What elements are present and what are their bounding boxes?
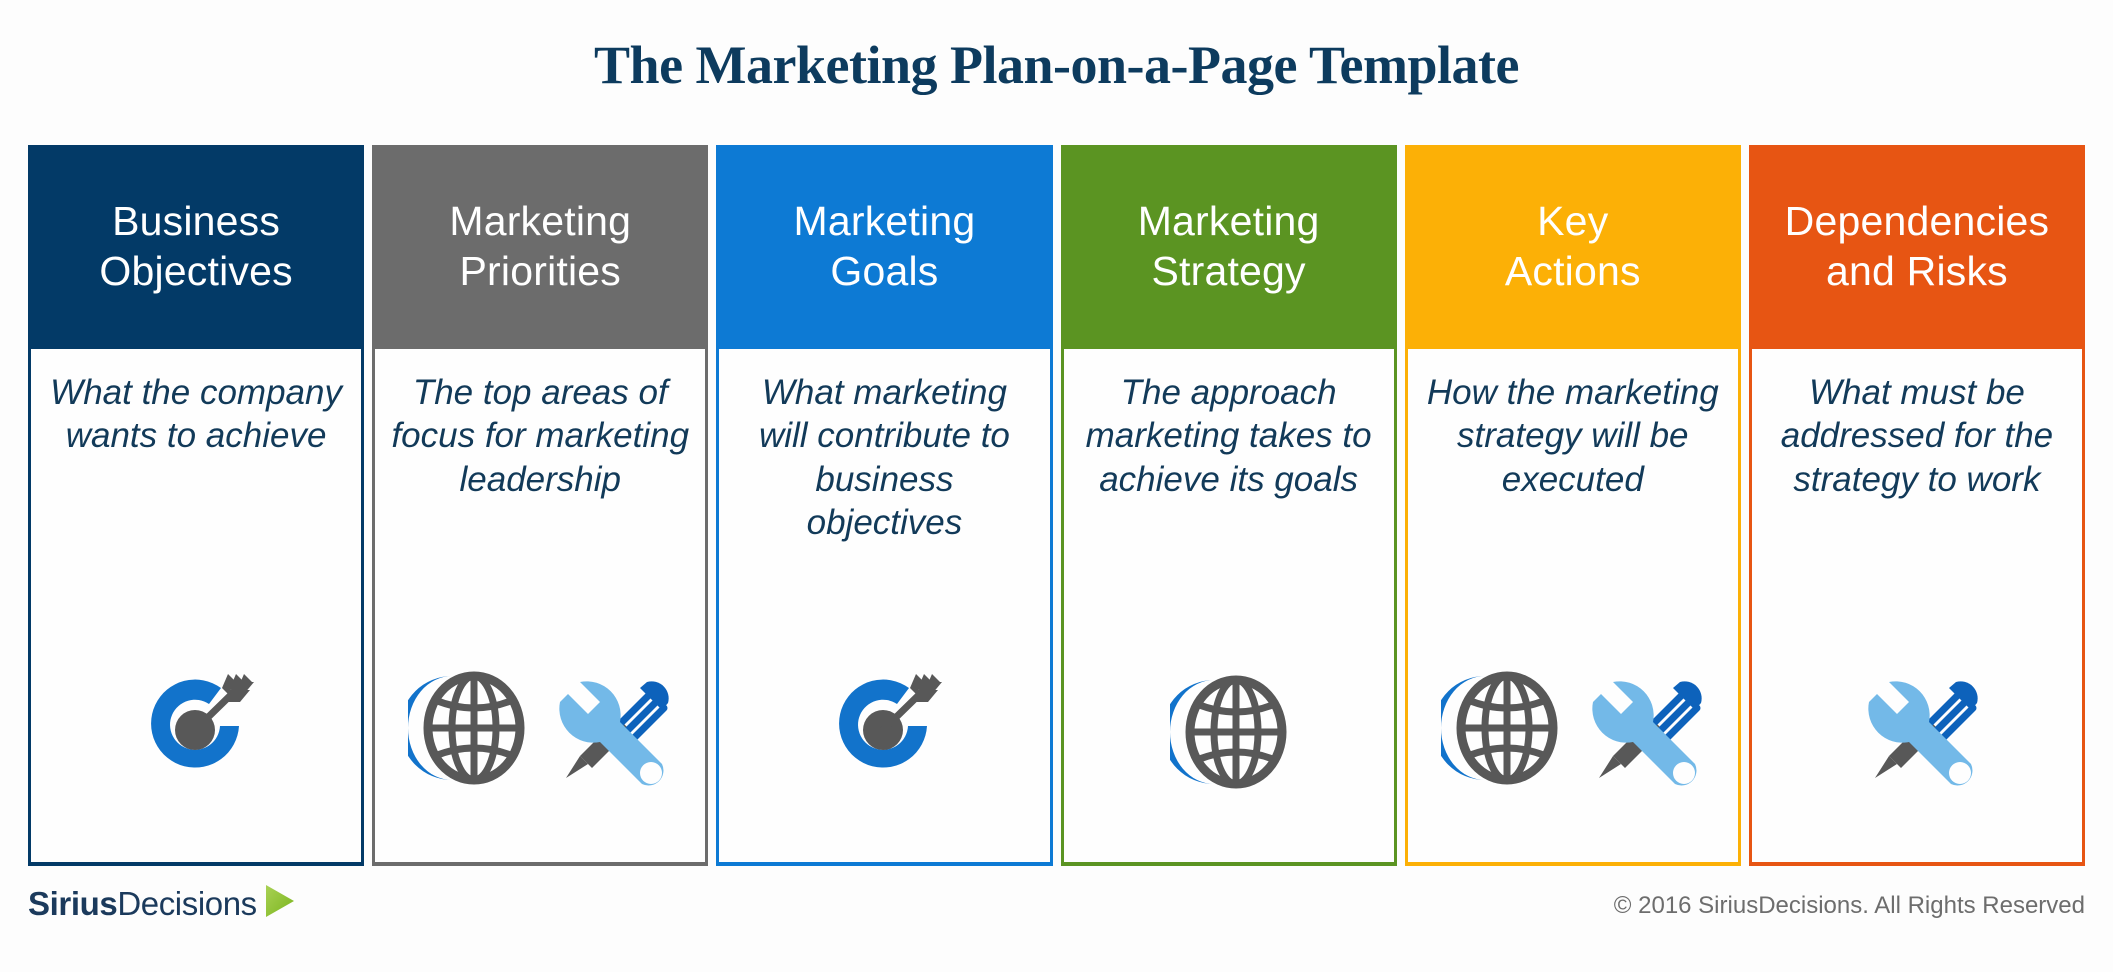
column-header-line2: Strategy: [1138, 247, 1320, 297]
column-header-line1: Key: [1505, 197, 1641, 247]
column-icon-row: [1064, 674, 1394, 790]
column-description: The approach marketing takes to achieve …: [1064, 371, 1394, 501]
column-body-business-objectives: What the company wants to achieve: [28, 349, 364, 866]
column-body-marketing-priorities: The top areas of focus for marketing lea…: [372, 349, 708, 866]
column-business-objectives[interactable]: Business Objectives What the company wan…: [28, 145, 364, 866]
column-header-dependencies-and-risks: Dependencies and Risks: [1749, 145, 2085, 349]
tools-icon: [544, 666, 672, 790]
column-icon-row: [1752, 666, 2082, 790]
column-description: The top areas of focus for marketing lea…: [375, 371, 705, 501]
column-icon-row: [31, 668, 361, 790]
globe-icon: [1441, 670, 1559, 786]
column-header-line1: Dependencies: [1785, 197, 2050, 247]
column-header-marketing-strategy: Marketing Strategy: [1061, 145, 1397, 349]
column-description: What marketing will contribute to busine…: [719, 371, 1049, 545]
column-header-marketing-priorities: Marketing Priorities: [372, 145, 708, 349]
column-marketing-goals[interactable]: Marketing Goals What marketing will cont…: [716, 145, 1052, 866]
column-header-line2: Priorities: [449, 247, 631, 297]
target-arrow-icon: [820, 668, 948, 790]
column-header-key-actions: Key Actions: [1405, 145, 1741, 349]
column-body-marketing-goals: What marketing will contribute to busine…: [716, 349, 1052, 866]
column-marketing-strategy[interactable]: Marketing Strategy The approach marketin…: [1061, 145, 1397, 866]
columns-board: Business Objectives What the company wan…: [28, 145, 2085, 866]
footer: SiriusDecisions © 2016 SiriusDecisions. …: [0, 866, 2113, 972]
column-header-line2: Objectives: [99, 247, 292, 297]
copyright-text: © 2016 SiriusDecisions. All Rights Reser…: [1614, 892, 2085, 920]
globe-icon: [408, 670, 526, 786]
tools-icon: [1853, 666, 1981, 790]
siriusdecisions-logo[interactable]: SiriusDecisions: [28, 882, 297, 925]
column-header-line1: Business: [99, 197, 292, 247]
column-header-line2: and Risks: [1785, 247, 2050, 297]
column-key-actions[interactable]: Key Actions How the marketing strategy w…: [1405, 145, 1741, 866]
column-icon-row: [1408, 666, 1738, 790]
column-icon-row: [375, 666, 705, 790]
column-description: How the marketing strategy will be execu…: [1408, 371, 1738, 501]
logo-wordmark: SiriusDecisions: [28, 885, 257, 923]
column-header-line2: Goals: [794, 247, 976, 297]
column-description: What the company wants to achieve: [31, 371, 361, 458]
column-header-line2: Actions: [1505, 247, 1641, 297]
column-body-dependencies-and-risks: What must be addressed for the strategy …: [1749, 349, 2085, 866]
column-body-marketing-strategy: The approach marketing takes to achieve …: [1061, 349, 1397, 866]
page-title: The Marketing Plan-on-a-Page Template: [0, 34, 2113, 96]
column-header-line1: Marketing: [1138, 197, 1320, 247]
globe-icon: [1170, 674, 1288, 790]
logo-wordmark-bold: Sirius: [28, 885, 117, 922]
column-header-line1: Marketing: [794, 197, 976, 247]
column-description: What must be addressed for the strategy …: [1752, 371, 2082, 501]
column-marketing-priorities[interactable]: Marketing Priorities The top areas of fo…: [372, 145, 708, 866]
column-header-marketing-goals: Marketing Goals: [716, 145, 1052, 349]
column-header-business-objectives: Business Objectives: [28, 145, 364, 349]
column-body-key-actions: How the marketing strategy will be execu…: [1405, 349, 1741, 866]
plan-on-a-page-template: The Marketing Plan-on-a-Page Template Bu…: [0, 0, 2113, 972]
column-header-line1: Marketing: [449, 197, 631, 247]
logo-wordmark-regular: Decisions: [117, 885, 256, 922]
green-triangle-icon: [263, 882, 297, 925]
column-dependencies-and-risks[interactable]: Dependencies and Risks What must be addr…: [1749, 145, 2085, 866]
target-arrow-icon: [132, 668, 260, 790]
column-icon-row: [719, 668, 1049, 790]
tools-icon: [1577, 666, 1705, 790]
